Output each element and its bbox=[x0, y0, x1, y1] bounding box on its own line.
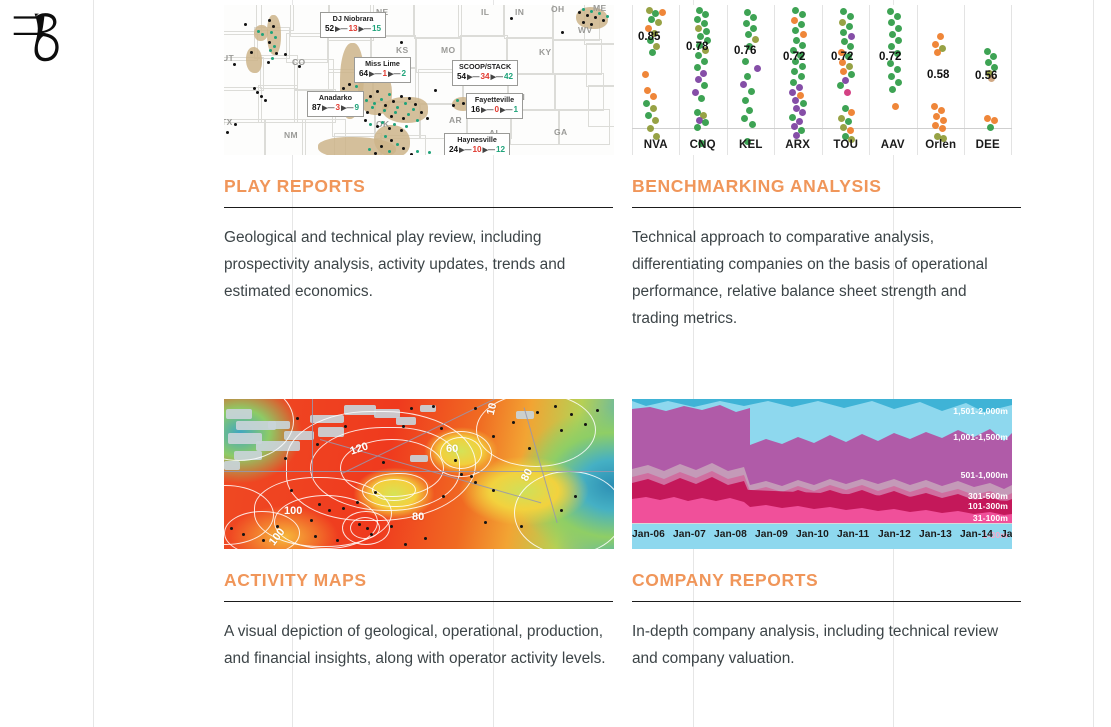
map-state-label: AR bbox=[449, 115, 462, 125]
card-title[interactable]: BENCHMARKING ANALYSIS bbox=[632, 177, 1022, 196]
card-title[interactable]: COMPANY REPORTS bbox=[632, 571, 1022, 590]
card-title[interactable]: ACTIVITY MAPS bbox=[224, 571, 614, 590]
map-callout: DJ Niobrara 52▶—13▶—15 bbox=[320, 12, 386, 38]
area-series-label: 31-100m bbox=[973, 513, 1008, 523]
thumbnail-stacked-area[interactable]: 1,501-2,000m 1,001-1,500m 501-1,000m 301… bbox=[632, 399, 1012, 549]
guide-line bbox=[93, 0, 94, 727]
benchmark-tick: Orlen bbox=[917, 139, 965, 151]
guide-line bbox=[1093, 0, 1094, 727]
map-state-label: IN bbox=[515, 7, 524, 17]
benchmark-tick: CNQ bbox=[679, 139, 727, 151]
benchmark-value: 0.78 bbox=[686, 41, 708, 53]
area-series-label: 1,001-1,500m bbox=[953, 432, 1008, 442]
card-company-reports[interactable]: 1,501-2,000m 1,001-1,500m 501-1,000m 301… bbox=[632, 399, 1022, 672]
thumbnail-shale-play-map[interactable]: UT CO NM NE KS OK MO AR IL IN OH ME WV K… bbox=[224, 5, 614, 155]
map-state-label: IL bbox=[481, 7, 489, 17]
thumbnail-benchmark-scatter[interactable]: 0.85 0.78 0.76 0.72 0.72 0.72 0.58 0.56 … bbox=[632, 5, 1012, 155]
area-x-tick: Jan-11 bbox=[837, 529, 869, 540]
card-body: Technical approach to comparative analys… bbox=[632, 224, 1004, 332]
card-divider bbox=[632, 207, 1021, 208]
map-state-label: GA bbox=[554, 127, 568, 137]
card-body: A visual depiction of geological, operat… bbox=[224, 618, 612, 672]
map-callout: SCOOP/STACK 54▶—34▶—42 bbox=[452, 60, 518, 86]
benchmark-value: 0.85 bbox=[638, 31, 660, 43]
card-divider bbox=[632, 601, 1021, 602]
map-callout: Fayetteville 16▶—0▶—1 bbox=[466, 93, 523, 119]
area-x-tick: Jan-13 bbox=[919, 529, 952, 540]
area-x-tick: Jan-07 bbox=[673, 529, 706, 540]
area-x-tick: Jan-08 bbox=[714, 529, 747, 540]
map-state-label: KS bbox=[396, 45, 409, 55]
card-divider bbox=[224, 601, 613, 602]
benchmark-value: 0.76 bbox=[734, 45, 756, 57]
contour-label: 100 bbox=[284, 505, 302, 517]
card-body: Geological and technical play review, in… bbox=[224, 224, 612, 305]
benchmark-value: 0.72 bbox=[831, 51, 853, 63]
area-x-tick: Jan-12 bbox=[878, 529, 911, 540]
map-state-label: UT bbox=[224, 53, 234, 63]
area-series-label: 1,501-2,000m bbox=[953, 406, 1008, 416]
card-activity-maps[interactable]: 120 100 100 80 80 60 10 bbox=[224, 399, 614, 672]
map-callout: Miss Lime 64▶—1▶—2 bbox=[354, 57, 411, 83]
contour-label: 60 bbox=[446, 443, 458, 455]
card-body: In-depth company analysis, including tec… bbox=[632, 618, 1004, 672]
area-x-tick: Jan-10 bbox=[796, 529, 829, 540]
map-state-label: MO bbox=[441, 45, 456, 55]
area-x-tick: Jan-14 bbox=[960, 529, 993, 540]
area-x-tick: Jan-15 bbox=[1001, 529, 1012, 540]
logo-area bbox=[0, 0, 93, 727]
area-series-label: 101-300m bbox=[968, 501, 1008, 511]
card-play-reports[interactable]: UT CO NM NE KS OK MO AR IL IN OH ME WV K… bbox=[224, 5, 614, 305]
benchmark-tick: ARX bbox=[774, 139, 822, 151]
benchmark-tick: KEL bbox=[727, 139, 775, 151]
map-state-label: WV bbox=[578, 25, 593, 35]
benchmark-tick: DEE bbox=[964, 139, 1012, 151]
benchmark-value: 0.58 bbox=[927, 69, 949, 81]
map-state-label: OH bbox=[551, 5, 565, 14]
map-state-label: KY bbox=[539, 47, 552, 57]
map-callout: Anadarko 87▶—3▶—9 bbox=[307, 91, 364, 117]
area-x-tick: Jan-09 bbox=[755, 529, 788, 540]
benchmark-value: 0.72 bbox=[879, 51, 901, 63]
page-root: UT CO NM NE KS OK MO AR IL IN OH ME WV K… bbox=[0, 0, 1111, 727]
card-title[interactable]: PLAY REPORTS bbox=[224, 177, 614, 196]
map-callout: Haynesville 24▶—10▶—12 bbox=[444, 133, 510, 155]
benchmark-tick: NVA bbox=[632, 139, 680, 151]
benchmark-tick: AAV bbox=[869, 139, 917, 151]
benchmark-tick: TOU bbox=[822, 139, 870, 151]
benchmark-value: 0.72 bbox=[783, 51, 805, 63]
area-series-label: 301-500m bbox=[968, 491, 1008, 501]
thumbnail-contour-heatmap[interactable]: 120 100 100 80 80 60 10 bbox=[224, 399, 614, 549]
area-series-label: 501-1,000m bbox=[961, 470, 1008, 480]
benchmark-value: 0.56 bbox=[975, 70, 997, 82]
map-state-label: NM bbox=[284, 130, 298, 140]
rs-monogram-logo-icon[interactable] bbox=[12, 12, 68, 64]
product-grid: UT CO NM NE KS OK MO AR IL IN OH ME WV K… bbox=[224, 0, 1024, 727]
card-benchmarking-analysis[interactable]: 0.85 0.78 0.76 0.72 0.72 0.72 0.58 0.56 … bbox=[632, 5, 1022, 332]
card-divider bbox=[224, 207, 613, 208]
contour-label: 80 bbox=[412, 511, 424, 523]
map-state-label: TX bbox=[224, 117, 233, 127]
area-x-tick: Jan-06 bbox=[632, 529, 665, 540]
